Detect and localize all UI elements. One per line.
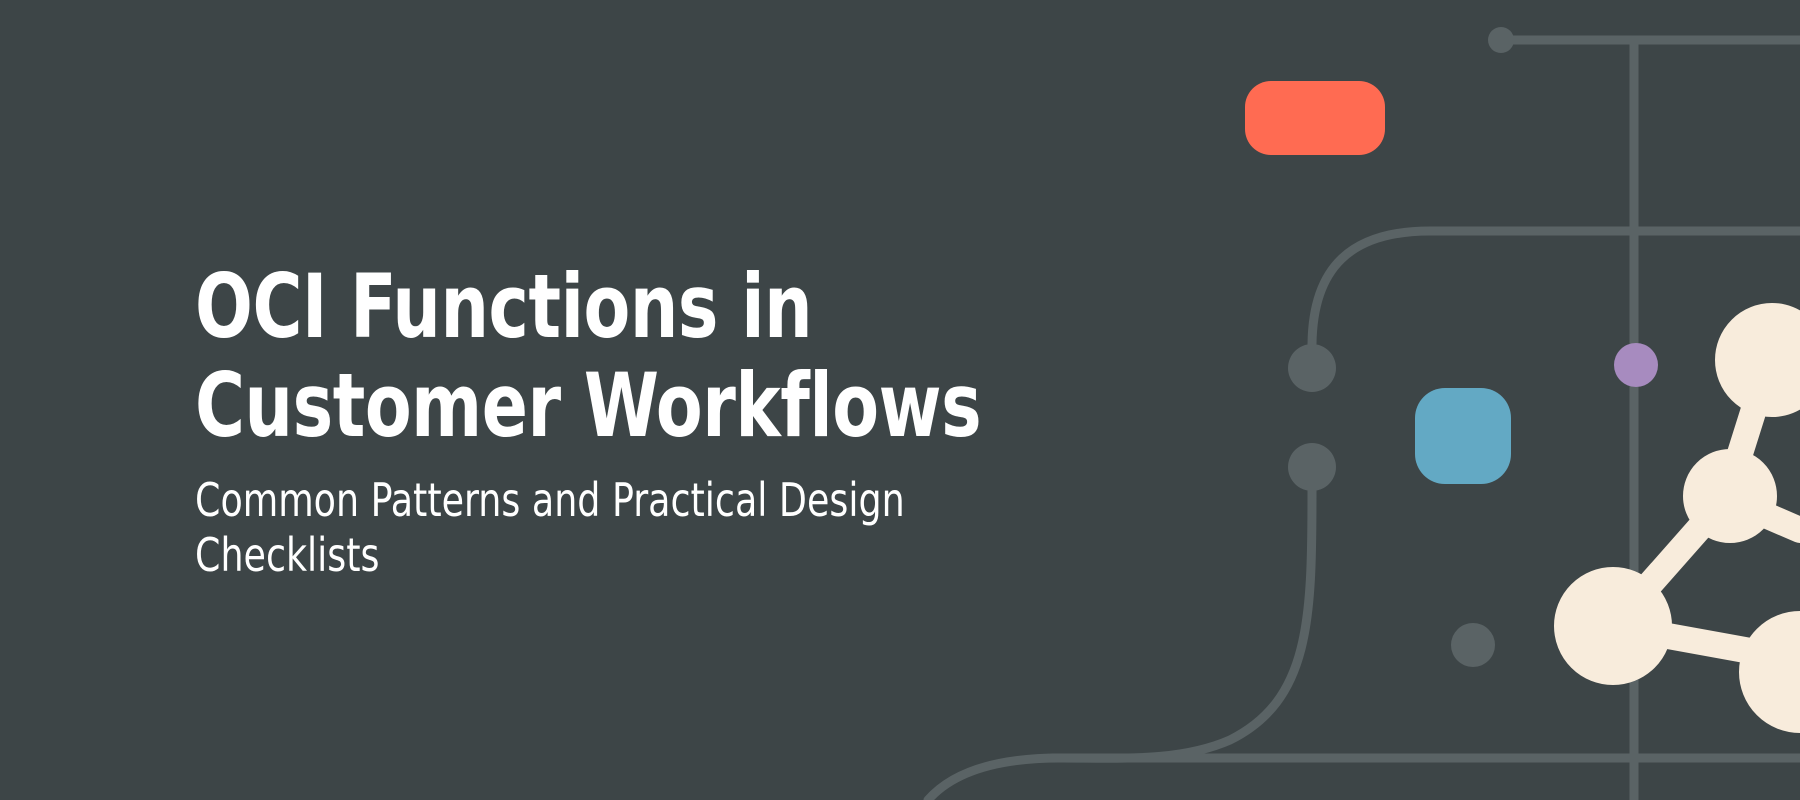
cream-molecule-icon xyxy=(1567,316,1800,720)
banner-text-block: OCI Functions in Customer Workflows Comm… xyxy=(195,258,1195,583)
purple-dot-shape xyxy=(1614,343,1658,387)
curve-upper-line xyxy=(1312,231,1800,344)
node-circles xyxy=(1288,27,1514,667)
cream-molecule-bond-outer xyxy=(1726,498,1800,530)
page-title: OCI Functions in Customer Workflows xyxy=(195,258,1055,455)
cream-molecule-bond-top xyxy=(1726,390,1760,498)
cream-molecule-bond-upper xyxy=(1613,498,1726,626)
blue-rounded-square-shape xyxy=(1415,388,1511,484)
cream-molecule-node-right xyxy=(1752,624,1800,720)
grey-node-upper-icon xyxy=(1288,344,1336,392)
top-left-node-dot-icon xyxy=(1488,27,1514,53)
red-rounded-rect-shape xyxy=(1245,81,1385,155)
hero-banner: OCI Functions in Customer Workflows Comm… xyxy=(0,0,1800,800)
grey-node-lower-icon xyxy=(1288,443,1336,491)
cream-molecule-bond-right xyxy=(1613,626,1800,660)
grey-node-solo-icon xyxy=(1451,623,1495,667)
cream-molecule-node-top xyxy=(1728,316,1800,404)
cream-molecule-node-mid xyxy=(1696,462,1764,530)
cream-molecule-node-left xyxy=(1567,580,1659,672)
page-subtitle: Common Patterns and Practical Design Che… xyxy=(195,473,1075,583)
